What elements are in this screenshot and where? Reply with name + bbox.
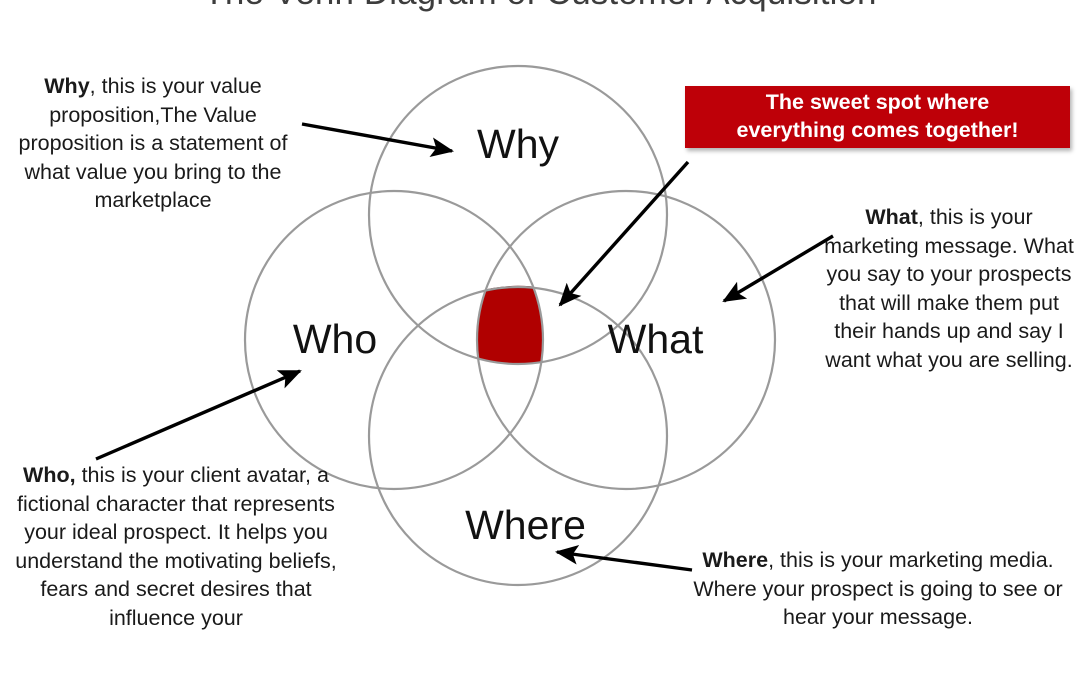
note-where: Where, this is your marketing media. Whe… [676, 546, 1080, 632]
arrow-to-where [557, 552, 692, 570]
note-what: What, this is your marketing message. Wh… [820, 203, 1078, 375]
circle-label-who: Who [255, 316, 415, 363]
callout-line-2: everything comes together! [737, 118, 1019, 142]
note-where-lead: Where [702, 548, 768, 572]
note-what-body: , this is your marketing message. What y… [824, 205, 1074, 372]
arrow-to-who [96, 371, 300, 459]
sweet-spot-callout: The sweet spot where everything comes to… [685, 86, 1070, 148]
circle-label-where: Where [438, 502, 613, 549]
circle-label-what: What [568, 316, 743, 363]
arrow-to-sweet-spot [560, 162, 688, 305]
circle-label-why: Why [438, 121, 598, 168]
note-who: Who, this is your client avatar, a ficti… [0, 461, 352, 633]
note-why: Why, this is your value proposition,The … [2, 72, 304, 215]
note-what-lead: What [865, 205, 918, 229]
note-why-lead: Why [44, 74, 89, 98]
diagram-canvas: The Venn Diagram of Customer Acquisition [0, 0, 1080, 675]
note-who-body: this is your client avatar, a fictional … [15, 463, 337, 630]
callout-line-1: The sweet spot where [766, 90, 989, 114]
arrow-to-why [302, 124, 452, 151]
note-who-lead: Who, [23, 463, 76, 487]
